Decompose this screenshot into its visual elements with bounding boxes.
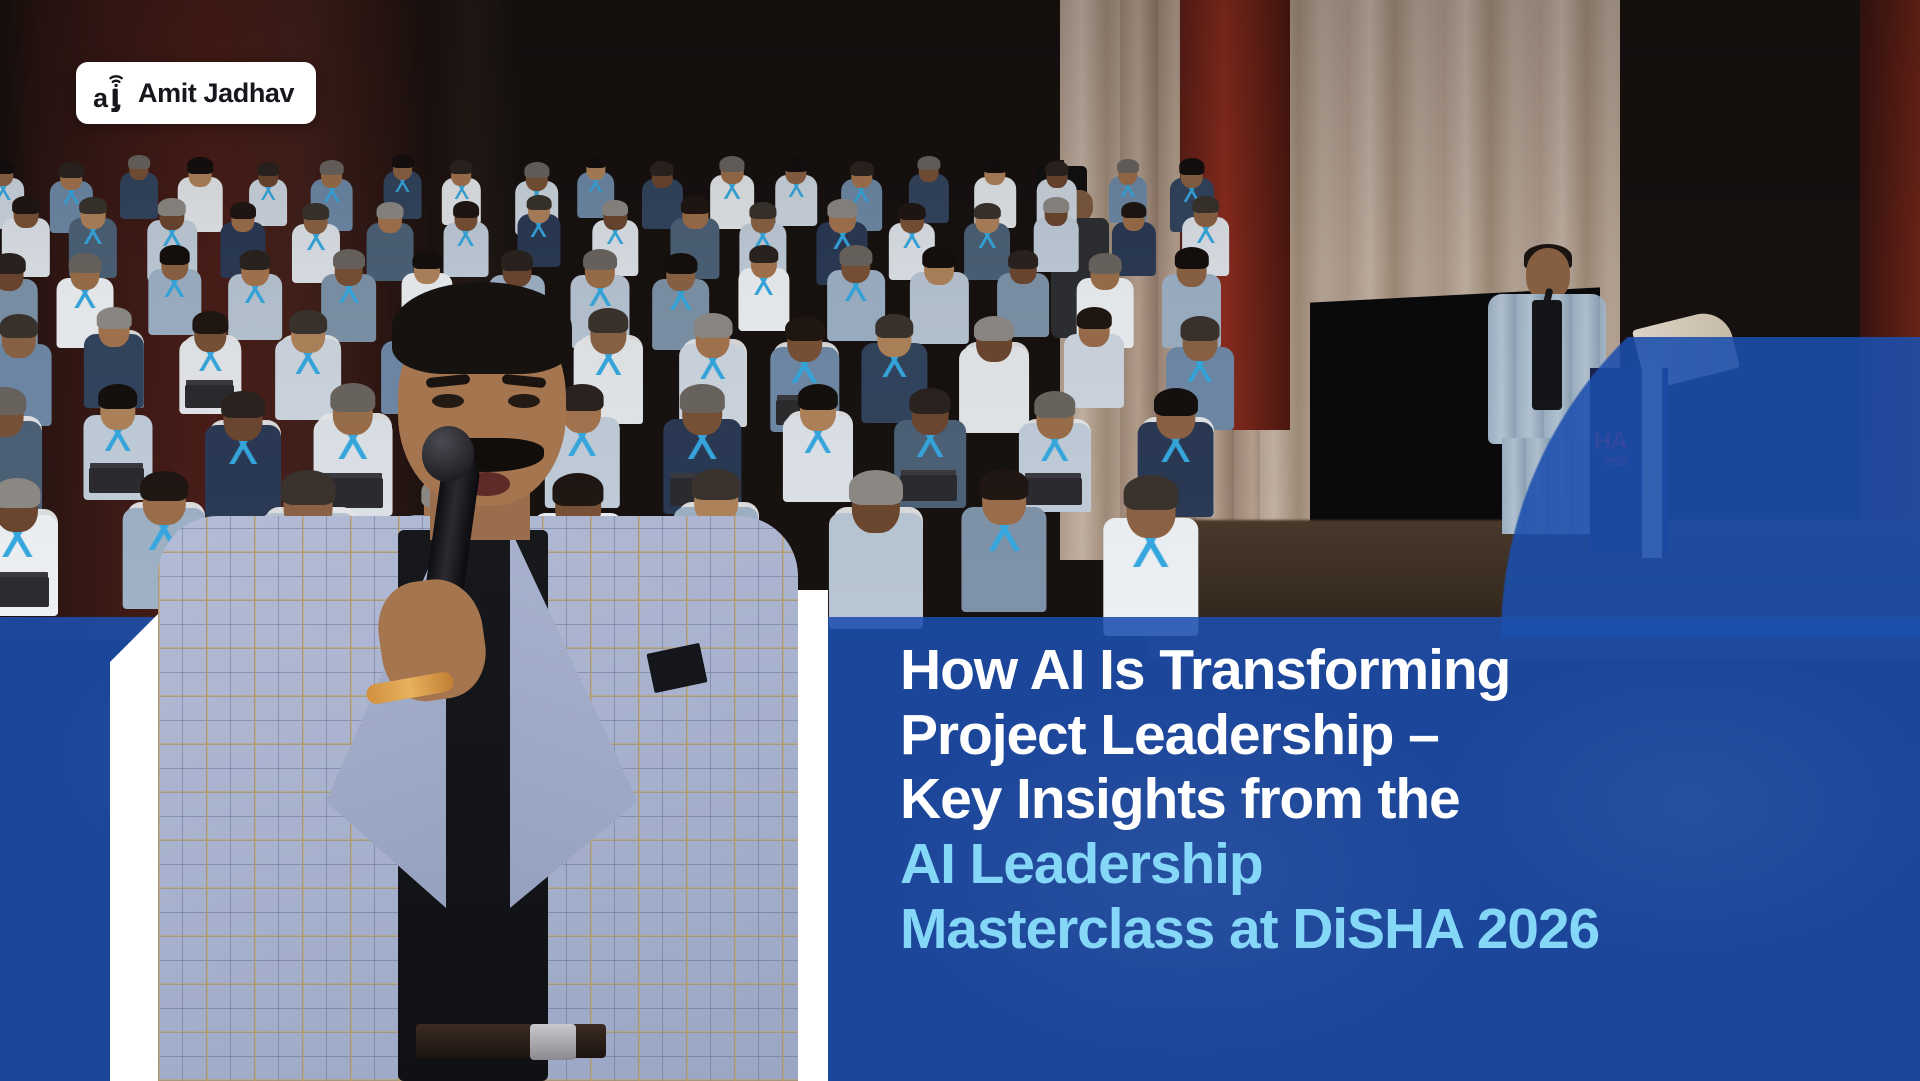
speaker-belt bbox=[416, 1024, 606, 1058]
event-banner: HA 2026 bbox=[0, 0, 1920, 1081]
foreground-speaker-cutout bbox=[130, 280, 820, 1081]
headline-line-1: How AI Is Transforming bbox=[900, 638, 1860, 703]
svg-text:a: a bbox=[94, 83, 109, 112]
headline-line-5: Masterclass at DiSHA 2026 bbox=[900, 897, 1860, 962]
headline-line-4: AI Leadership bbox=[900, 832, 1860, 897]
foreground-speaker bbox=[130, 280, 820, 1081]
speaker-belt-buckle bbox=[530, 1024, 576, 1060]
brand-name-label: Amit Jadhav bbox=[138, 78, 294, 109]
aj-wifi-logo-icon: a bbox=[94, 74, 128, 112]
headline: How AI Is TransformingProject Leadership… bbox=[900, 638, 1860, 961]
speaker-hair bbox=[392, 282, 572, 374]
brand-badge[interactable]: a Amit Jadhav bbox=[76, 62, 316, 124]
overlay-rounded-corner bbox=[1500, 337, 1920, 637]
speaker-eye-right bbox=[508, 394, 540, 408]
speaker-eye-left bbox=[432, 394, 464, 408]
headline-line-3: Key Insights from the bbox=[900, 767, 1860, 832]
headline-line-2: Project Leadership – bbox=[900, 703, 1860, 768]
